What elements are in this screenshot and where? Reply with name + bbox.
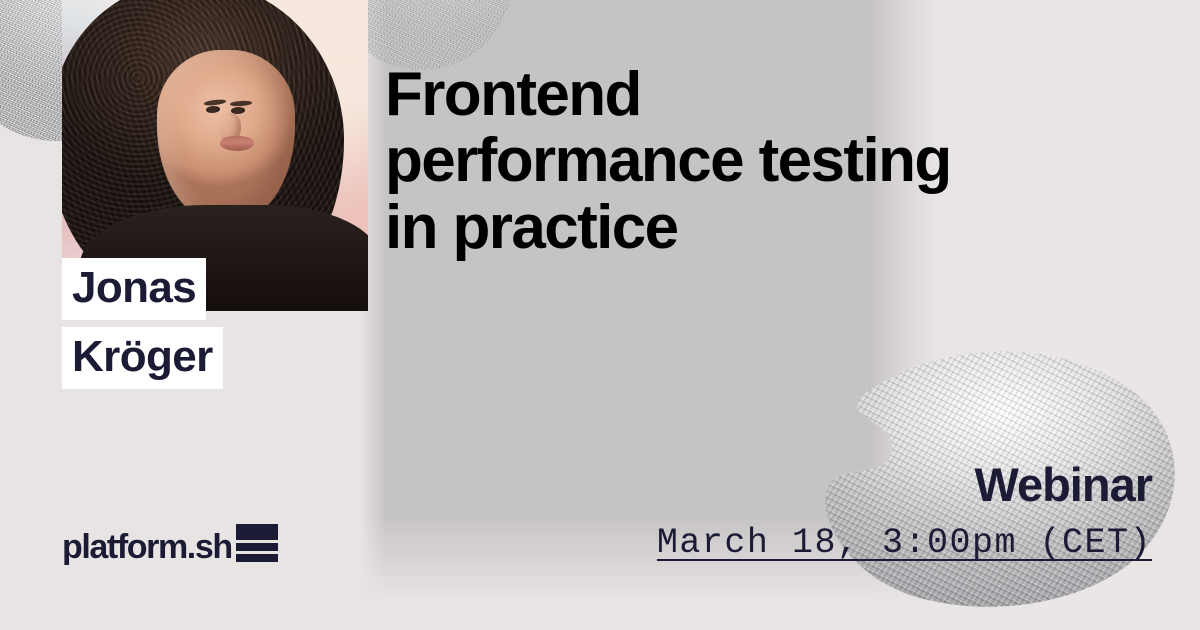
event-details: Webinar March 18, 3:00pm (CET) [657,461,1152,564]
photo-brow-right [230,100,252,107]
headline-line-2: performance testing [385,128,1165,194]
logo-bar-3 [236,554,278,562]
headline: Frontend performance testing in practice [385,62,1165,261]
logo-bar-1 [236,524,278,540]
speaker-last-name: Kröger [62,327,223,389]
photo-eye-left [206,106,220,114]
logo-bar-2 [236,543,278,551]
event-type-label: Webinar [657,461,1152,508]
event-date-time: March 18, 3:00pm (CET) [657,522,1152,564]
promo-card: Jonas Kröger Frontend performance testin… [0,0,1200,630]
headline-line-1: Frontend [385,62,1165,128]
headline-line-3: in practice [385,195,1165,261]
platform-sh-bars-icon [236,524,278,562]
photo-face [157,50,295,221]
speaker-nameplate: Jonas Kröger [62,258,223,389]
photo-mouth [220,136,254,151]
speaker-first-name: Jonas [62,258,206,320]
platform-sh-wordmark: platform.sh [62,530,232,564]
platform-sh-logo: platform.sh [62,524,278,564]
